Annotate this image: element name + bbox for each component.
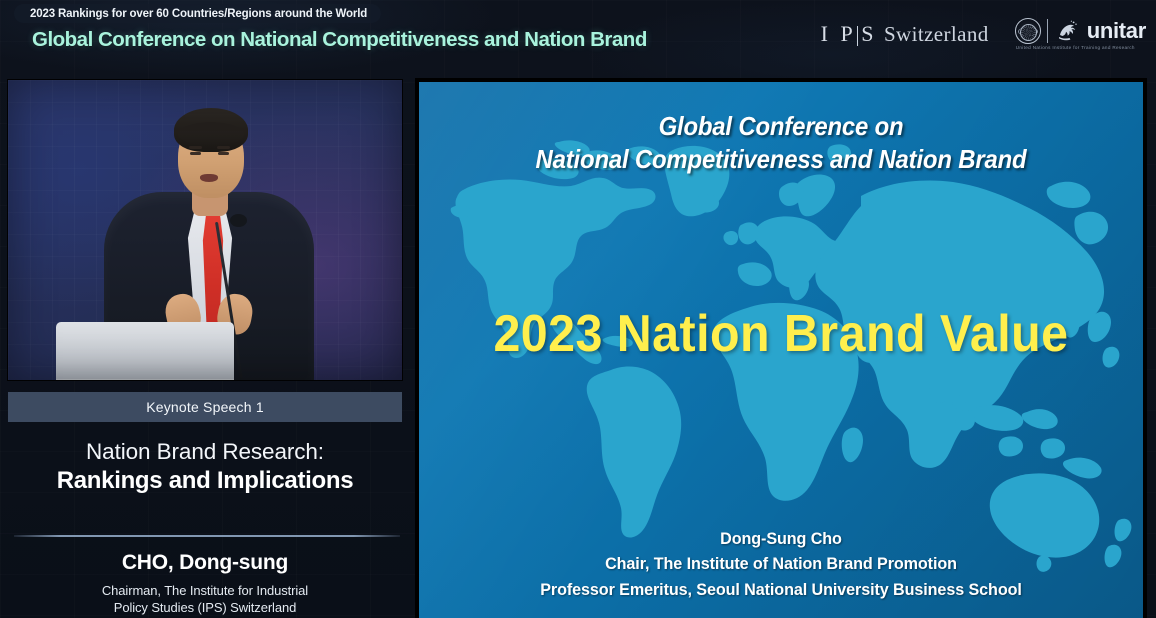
ips-mark-letters: I P (821, 21, 857, 47)
un-emblem-icon (1015, 18, 1041, 44)
slide-presenter-name: Dong-Sung Cho (437, 526, 1125, 552)
page-title: Global Conference on National Competitiv… (32, 28, 647, 52)
talk-title-line1: Nation Brand Research: (8, 438, 402, 465)
speaker-affiliation: Chairman, The Institute for Industrial P… (8, 583, 402, 616)
unitar-dove-icon (1054, 18, 1080, 44)
header-subtitle: 2023 Rankings for over 60 Countries/Regi… (30, 8, 367, 20)
ips-divider-icon (857, 26, 858, 46)
ips-wordmark: Switzerland (884, 22, 989, 47)
speaker-eye-left (190, 152, 201, 155)
presentation-slide: Global Conference on National Competitiv… (419, 82, 1143, 618)
slide-presenter-block: Dong-Sung Cho Chair, The Institute of Na… (437, 526, 1125, 603)
speaker-video-frame[interactable] (8, 80, 402, 380)
talk-title-line2: Rankings and Implications (8, 466, 402, 495)
unitar-tagline: United Nations Institute for Training an… (1016, 45, 1135, 50)
speaker-affiliation-line2: Policy Studies (IPS) Switzerland (8, 600, 402, 617)
panel-divider (14, 535, 400, 537)
presentation-slide-frame[interactable]: Global Conference on National Competitiv… (416, 79, 1146, 618)
ips-mark-letter-s: S (861, 21, 877, 47)
speaker-mouth (200, 174, 218, 182)
page-header: 2023 Rankings for over 60 Countries/Regi… (0, 0, 1156, 78)
unitar-wordmark: unitar (1087, 20, 1146, 42)
ips-mark: I P S (821, 21, 877, 47)
unitar-logo-divider (1047, 19, 1048, 43)
speaker-brow-right (217, 146, 230, 149)
keynote-badge-label: Keynote Speech 1 (146, 399, 264, 415)
talk-title: Nation Brand Research: Rankings and Impl… (8, 438, 402, 496)
speaker-affiliation-line1: Chairman, The Institute for Industrial (8, 583, 402, 600)
slide-heading-line2: National Competitiveness and Nation Bran… (448, 143, 1114, 176)
ips-switzerland-logo: I P S Switzerland (821, 21, 989, 47)
speaker-panel: Keynote Speech 1 Nation Brand Research: … (8, 80, 402, 618)
speaker-figure (8, 80, 402, 380)
slide-heading-line1: Global Conference on (448, 110, 1114, 143)
slide-presenter-role: Chair, The Institute of Nation Brand Pro… (437, 551, 1125, 577)
slide-presenter-title: Professor Emeritus, Seoul National Unive… (437, 577, 1125, 603)
unitar-logo-row: unitar (1015, 18, 1146, 44)
keynote-badge: Keynote Speech 1 (8, 392, 402, 422)
speaker-name: CHO, Dong-sung (8, 551, 402, 575)
microphone-head-icon (230, 214, 247, 227)
speaker-brow-left (189, 146, 202, 149)
header-subtitle-pill: 2023 Rankings for over 60 Countries/Regi… (14, 4, 381, 23)
podium-laptop (56, 322, 234, 380)
slide-main-title: 2023 Nation Brand Value (444, 304, 1117, 364)
unitar-logo: unitar United Nations Institute for Trai… (1015, 18, 1146, 50)
logo-group: I P S Switzerland (821, 18, 1146, 50)
speaker-hair (174, 108, 248, 152)
speaker-eye-right (218, 152, 229, 155)
slide-heading: Global Conference on National Competitiv… (448, 110, 1114, 177)
